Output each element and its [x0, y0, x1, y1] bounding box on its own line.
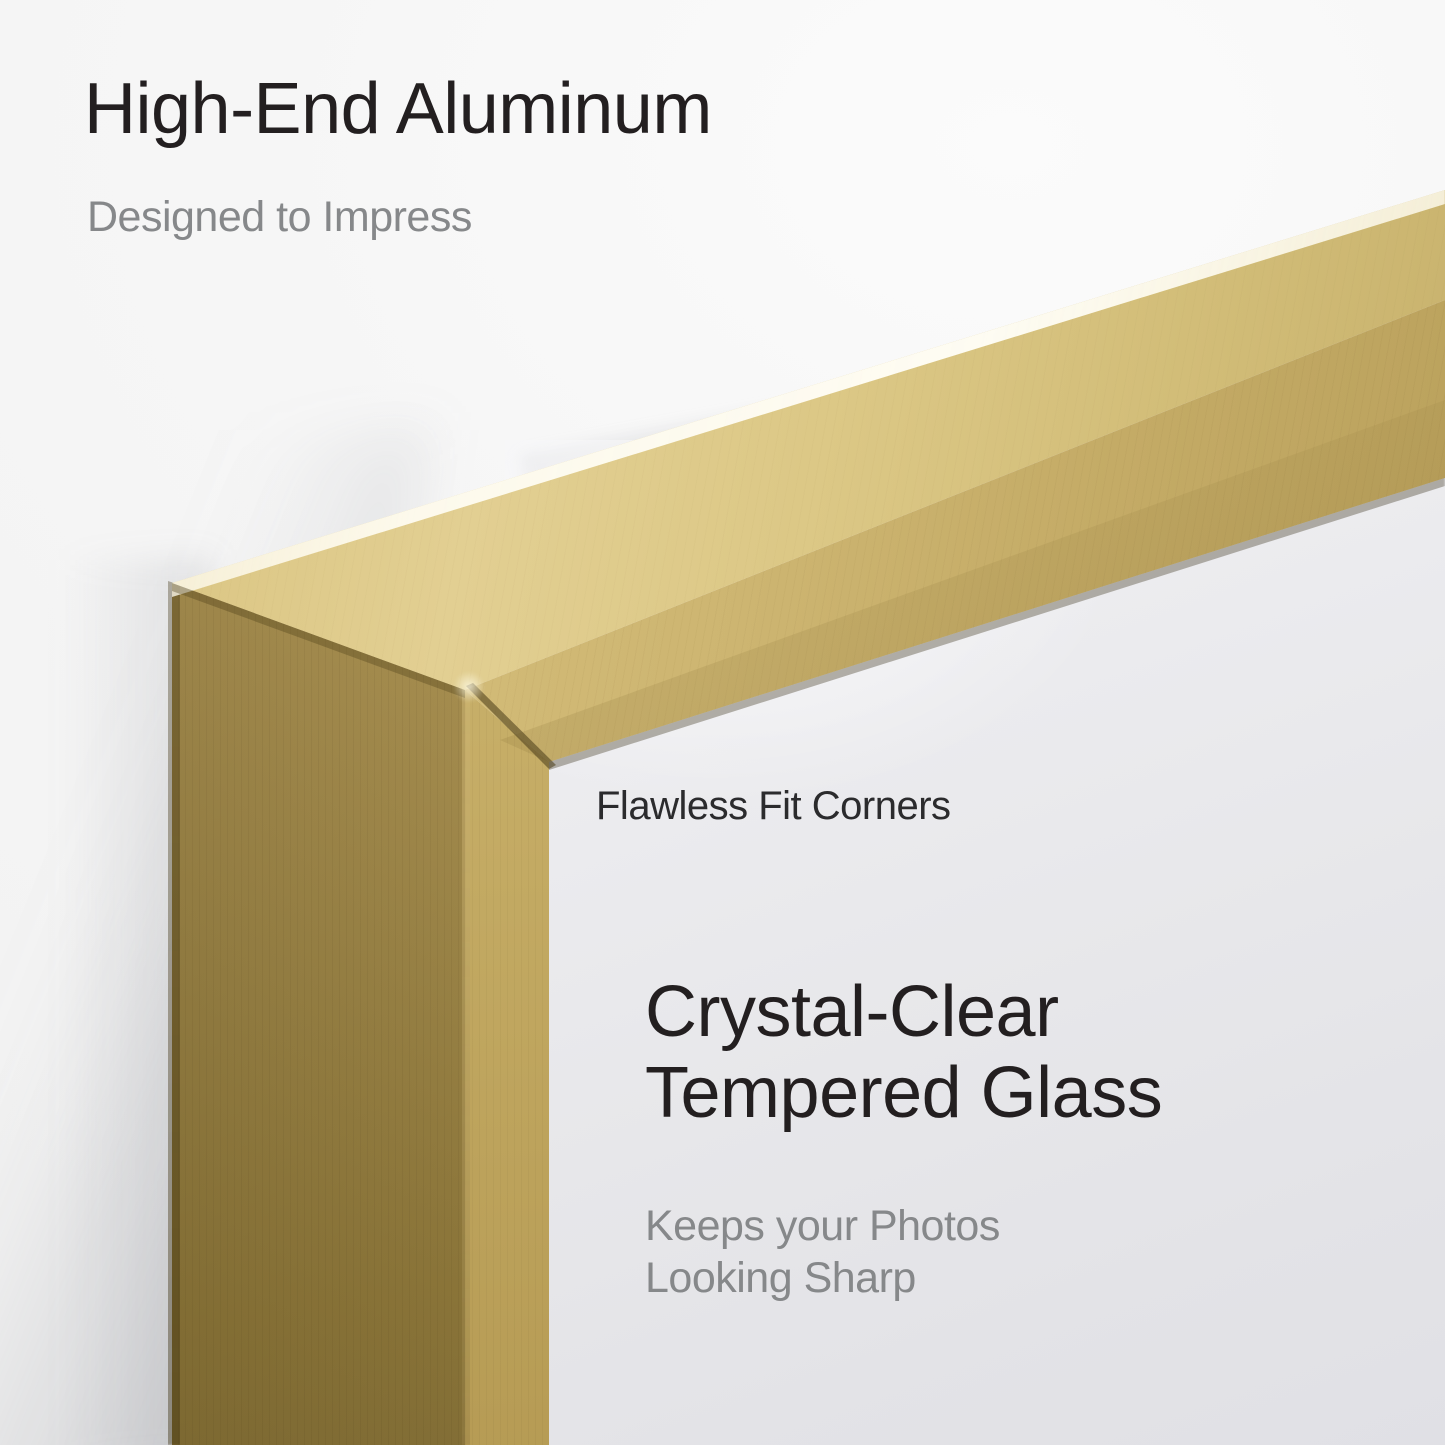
frame-corner-apex-glint [452, 672, 486, 702]
glass-feature-subtext-line1: Keeps your Photos [645, 1202, 1000, 1250]
glass-feature-subtext: Keeps your PhotosLooking Sharp [645, 1201, 1000, 1304]
page-subtitle: Designed to Impress [87, 196, 472, 239]
page-title: High-End Aluminum [84, 73, 712, 145]
glass-feature-headline: Crystal-ClearTempered Glass [645, 972, 1162, 1135]
glass-feature-headline-line2: Tempered Glass [645, 1053, 1162, 1133]
glass-feature-headline-line1: Crystal-Clear [645, 972, 1059, 1052]
product-feature-image: High-End Aluminum Designed to Impress Fl… [0, 0, 1445, 1445]
callout-flawless-fit-corners: Flawless Fit Corners [596, 786, 951, 826]
glass-feature-subtext-line2: Looking Sharp [645, 1254, 916, 1302]
